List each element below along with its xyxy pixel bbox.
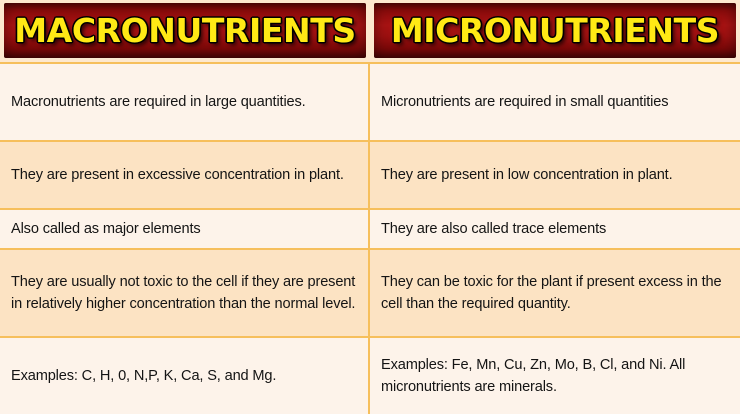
comparison-table: MACRONUTRIENTS MICRONUTRIENTS Macronutri… [0, 0, 740, 414]
cell-micronutrient-5: Examples: Fe, Mn, Cu, Zn, Mo, B, Cl, and… [370, 338, 740, 414]
cell-macronutrient-1: Macronutrients are required in large qua… [0, 64, 370, 140]
cell-micronutrient-2: They are present in low concentration in… [370, 142, 740, 208]
header-cell-macronutrients: MACRONUTRIENTS [0, 0, 370, 62]
table-row: They are usually not toxic to the cell i… [0, 248, 740, 336]
cell-macronutrient-5: Examples: C, H, 0, N,P, K, Ca, S, and Mg… [0, 338, 370, 414]
header-title-macronutrients: MACRONUTRIENTS [14, 14, 356, 47]
cell-macronutrient-2: They are present in excessive concentrat… [0, 142, 370, 208]
cell-macronutrient-4: They are usually not toxic to the cell i… [0, 250, 370, 336]
table-row: Also called as major elements They are a… [0, 208, 740, 248]
table-row: Examples: C, H, 0, N,P, K, Ca, S, and Mg… [0, 336, 740, 414]
table-row: Macronutrients are required in large qua… [0, 62, 740, 140]
header-cell-micronutrients: MICRONUTRIENTS [370, 0, 740, 62]
header-banner-left: MACRONUTRIENTS [4, 3, 366, 58]
table-header-row: MACRONUTRIENTS MICRONUTRIENTS [0, 0, 740, 62]
header-banner-right: MICRONUTRIENTS [374, 3, 736, 58]
header-title-micronutrients: MICRONUTRIENTS [391, 14, 719, 47]
cell-macronutrient-3: Also called as major elements [0, 210, 370, 248]
cell-micronutrient-3: They are also called trace elements [370, 210, 740, 248]
cell-micronutrient-1: Micronutrients are required in small qua… [370, 64, 740, 140]
table-row: They are present in excessive concentrat… [0, 140, 740, 208]
cell-micronutrient-4: They can be toxic for the plant if prese… [370, 250, 740, 336]
